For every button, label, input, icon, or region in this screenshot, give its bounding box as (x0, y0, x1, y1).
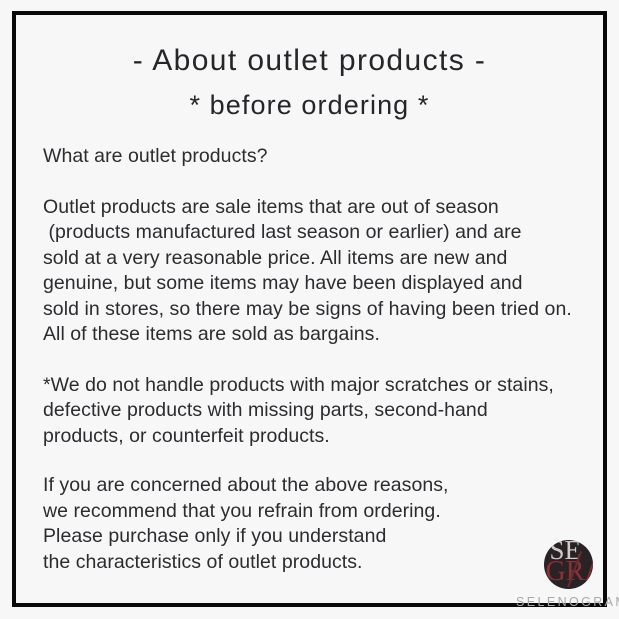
body-question: What are outlet products? (43, 144, 603, 170)
body-answer: Outlet products are sale items that are … (43, 195, 603, 348)
paragraph-spacer (43, 348, 603, 373)
notice-heading: - About outlet products - * before order… (16, 39, 603, 127)
heading-line-primary: - About outlet products - (16, 39, 603, 83)
notice-body: What are outlet products? Outlet product… (43, 144, 603, 575)
paragraph-spacer (43, 449, 603, 473)
outlet-products-notice-card: - About outlet products - * before order… (0, 0, 619, 619)
heading-line-secondary: * before ordering * (16, 83, 603, 127)
paragraph-spacer (43, 170, 603, 195)
selenogram-monogram-icon: SE GRA (544, 540, 593, 589)
brand-wordmark: SELENOGRAM (516, 595, 619, 609)
card-border-frame: - About outlet products - * before order… (12, 11, 607, 607)
brand-logo: SE GRA SELENOGRAM (516, 537, 619, 609)
body-exclusions: *We do not handle products with major sc… (43, 373, 603, 450)
